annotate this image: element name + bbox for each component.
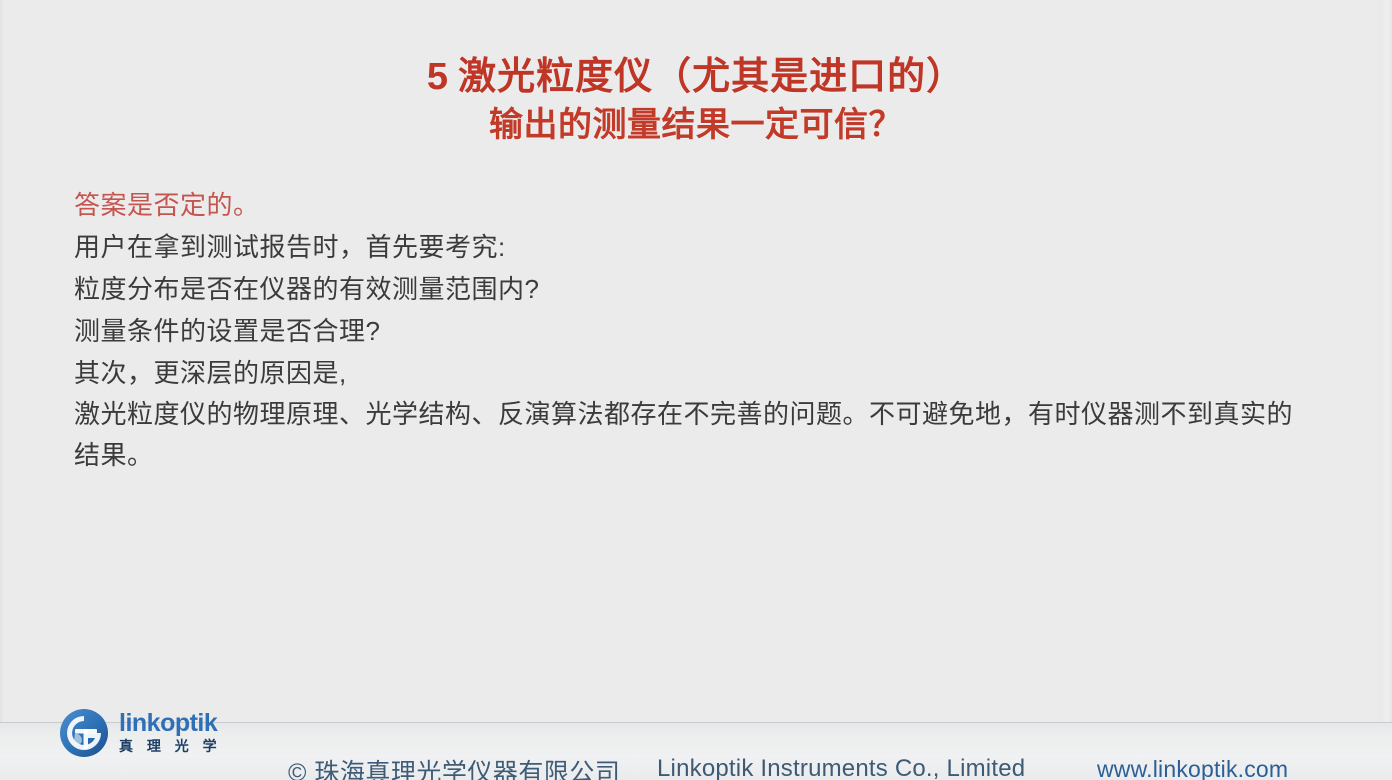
body-line-5: 激光粒度仪的物理原理、光学结构、反演算法都存在不完善的问题。不可避免地，有时仪器…	[74, 394, 1319, 476]
slide-title: 5激光粒度仪（尤其是进口的） 输出的测量结果一定可信？	[0, 54, 1392, 148]
footer-company-en: Linkoptik Instruments Co., Limited	[657, 755, 1025, 780]
body-line-3: 测量条件的设置是否合理?	[74, 310, 1319, 352]
slide-canvas: 5激光粒度仪（尤其是进口的） 输出的测量结果一定可信？ 答案是否定的。 用户在拿…	[0, 0, 1392, 780]
brand-logo: linkoptik 真 理 光 学	[58, 707, 222, 759]
footer-company-cn: © 珠海真理光学仪器有限公司	[288, 753, 620, 780]
logo-wordmark: linkoptik	[119, 710, 222, 736]
linkoptik-logo-icon	[58, 707, 110, 759]
title-number: 5	[427, 56, 458, 98]
logo-wordmark-cn: 真 理 光 学	[119, 737, 222, 756]
body-line-4: 其次，更深层的原因是,	[74, 352, 1319, 394]
title-line-1-text: 激光粒度仪（尤其是进口的）	[458, 56, 965, 98]
body-line-2: 粒度分布是否在仪器的有效测量范围内?	[74, 268, 1319, 310]
title-line-1: 5激光粒度仪（尤其是进口的）	[0, 54, 1392, 100]
slide-body: 答案是否定的。 用户在拿到测试报告时，首先要考究: 粒度分布是否在仪器的有效测量…	[74, 184, 1319, 476]
title-line-2: 输出的测量结果一定可信？	[0, 102, 1392, 148]
footer-website[interactable]: www.linkoptik.com	[1097, 756, 1288, 780]
body-line-answer: 答案是否定的。	[74, 184, 1319, 226]
slide-footer: linkoptik 真 理 光 学 © 珠海真理光学仪器有限公司 Linkopt…	[0, 722, 1392, 780]
body-line-1: 用户在拿到测试报告时，首先要考究:	[74, 226, 1319, 268]
